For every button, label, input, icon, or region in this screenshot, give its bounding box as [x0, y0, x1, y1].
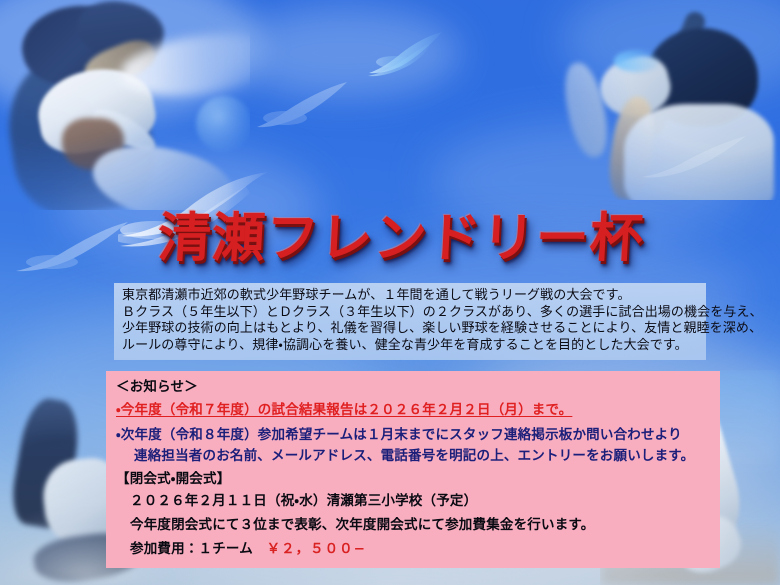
- tournament-description: 東京都清瀬市近郊の軟式少年野球チームが、１年間を通して戦うリーグ戦の大会です。 …: [114, 283, 706, 360]
- description-line-3: 少年野球の技術の向上はもとより、礼儀を習得し、楽しい野球を経験させることにより、…: [122, 321, 698, 338]
- notice-entry-line2: 連絡担当者のお名前、メールアドレス、電話番号を明記の上、エントリーをお願いします…: [116, 448, 720, 464]
- description-line-4: ルールの尊守により、規律・協調心を養い、健全な青少年を育成することを目的とした大…: [122, 338, 698, 355]
- entry-fee-row: 参加費用：１チーム ￥２，５００−: [116, 541, 720, 557]
- poster-page: 清瀬フレンドリー杯 東京都清瀬市近郊の軟式少年野球チームが、１年間を通して戦うリ…: [0, 0, 780, 585]
- ceremony-date: ２０２６年２月１１日（祝・水）清瀬第三小学校（予定）: [116, 493, 720, 509]
- entry-fee-label: 参加費用：１チーム: [130, 541, 267, 557]
- page-title: 清瀬フレンドリー杯: [156, 196, 680, 272]
- notice-panel: ＜お知らせ＞ ・今年度（令和７年度）の試合結果報告は２０２６年２月２日（月）まで…: [106, 371, 720, 568]
- description-line-1: 東京都清瀬市近郊の軟式少年野球チームが、１年間を通して戦うリーグ戦の大会です。: [122, 288, 698, 305]
- description-line-2: Ｂクラス（５年生以下）とＤクラス（３年生以下）の２クラスがあり、多くの選手に試合…: [122, 305, 698, 322]
- notice-heading: ＜お知らせ＞: [116, 379, 720, 395]
- notice-entry-line1: ・次年度（令和８年度）参加希望チームは１月末までにスタッフ連絡掲示板か問い合わせ…: [116, 427, 720, 443]
- ceremony-detail: 今年度閉会式にて３位まで表彰、次年度開会式にて参加費集金を行います。: [116, 517, 720, 533]
- entry-fee-value: ￥２，５００−: [267, 541, 366, 557]
- ceremony-heading: 【閉会式・開会式】: [116, 471, 720, 487]
- notice-result-deadline: ・今年度（令和７年度）の試合結果報告は２０２６年２月２日（月）まで。: [116, 402, 720, 418]
